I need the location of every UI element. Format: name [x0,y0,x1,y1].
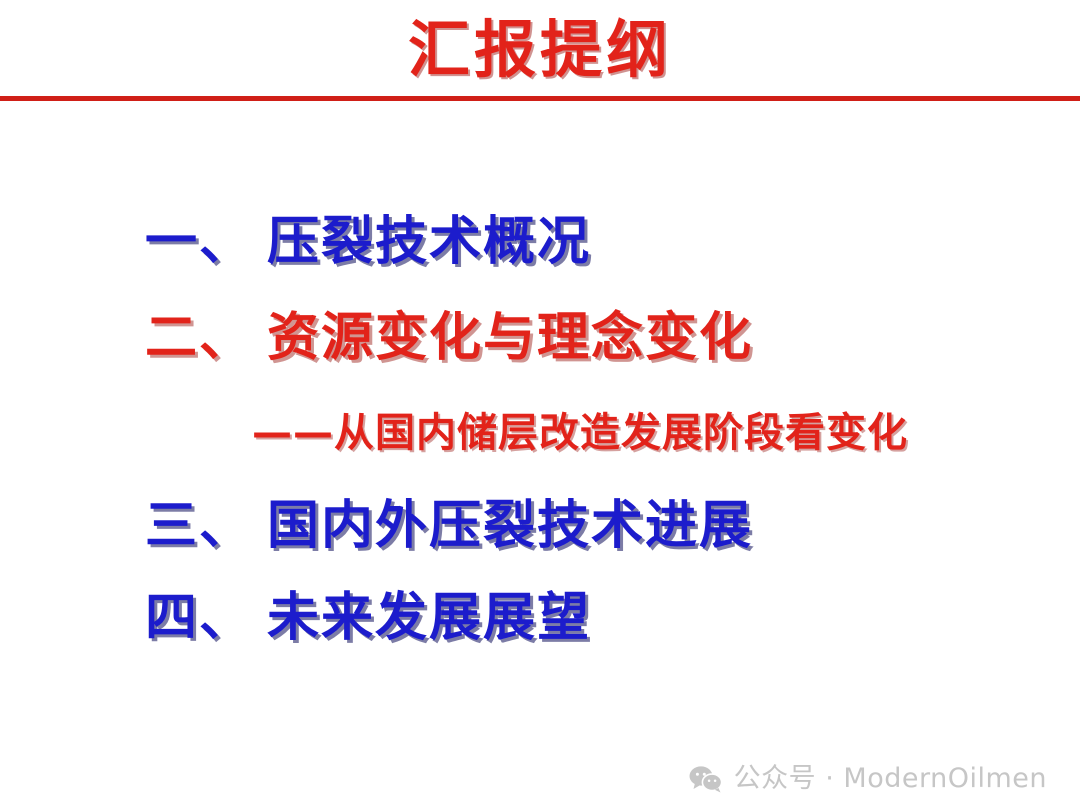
outline-item-1-number: 一、 [145,212,253,272]
outline-item-4-number: 四、 [145,588,253,648]
outline-item-2-number: 二、 [145,308,253,368]
outline-item-2[interactable]: 二、资源变化与理念变化 [145,312,1045,364]
footer-watermark: 公众号 · ModernOilmen [689,764,1047,794]
outline-list: 一、压裂技术概况 二、资源变化与理念变化 ——从国内储层改造发展阶段看变化 三、… [145,216,1045,644]
footer-account-name: 公众号 · ModernOilmen [734,764,1047,794]
outline-sub-item: ——从国内储层改造发展阶段看变化 [252,400,1045,458]
outline-item-3-number: 三、 [145,496,253,556]
outline-item-3-label: 国内外压裂技术进展 [267,496,753,556]
outline-item-4[interactable]: 四、未来发展展望 [145,592,1045,644]
wechat-icon [689,765,723,793]
slide-canvas: 汇报提纲 一、压裂技术概况 二、资源变化与理念变化 ——从国内储层改造发展阶段看… [0,0,1080,810]
outline-item-4-label: 未来发展展望 [267,588,591,648]
outline-item-3[interactable]: 三、国内外压裂技术进展 [145,500,1045,552]
outline-item-1[interactable]: 一、压裂技术概况 [145,216,1045,268]
outline-item-2-label: 资源变化与理念变化 [267,308,753,368]
title-divider [0,96,1080,101]
slide-title-block: 汇报提纲 [0,14,1080,86]
page-title: 汇报提纲 [408,14,672,86]
outline-item-1-label: 压裂技术概况 [267,212,591,272]
